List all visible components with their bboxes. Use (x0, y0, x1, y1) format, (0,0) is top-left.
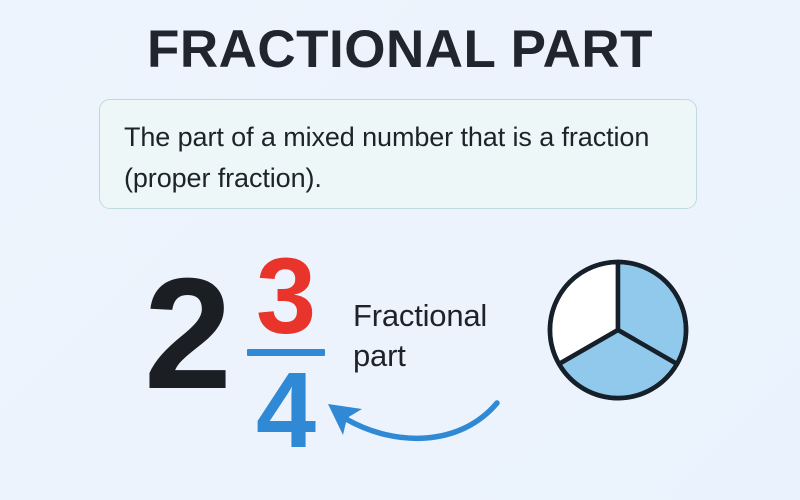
page-title: FRACTIONAL PART (0, 22, 800, 78)
numerator-digit: 3 (244, 245, 328, 347)
callout-label: Fractional part (353, 296, 487, 376)
definition-box: The part of a mixed number that is a fra… (99, 99, 697, 209)
callout-label-line-2: part (353, 336, 487, 376)
pie-chart-icon (540, 252, 696, 408)
arrow-curve (346, 403, 497, 438)
arrow-head (328, 404, 362, 435)
callout-label-line-1: Fractional (353, 296, 487, 336)
whole-number-digit: 2 (144, 255, 232, 413)
infographic-card: FRACTIONAL PART The part of a mixed numb… (0, 0, 800, 500)
definition-text: The part of a mixed number that is a fra… (124, 117, 672, 199)
curved-arrow-icon (310, 385, 520, 455)
